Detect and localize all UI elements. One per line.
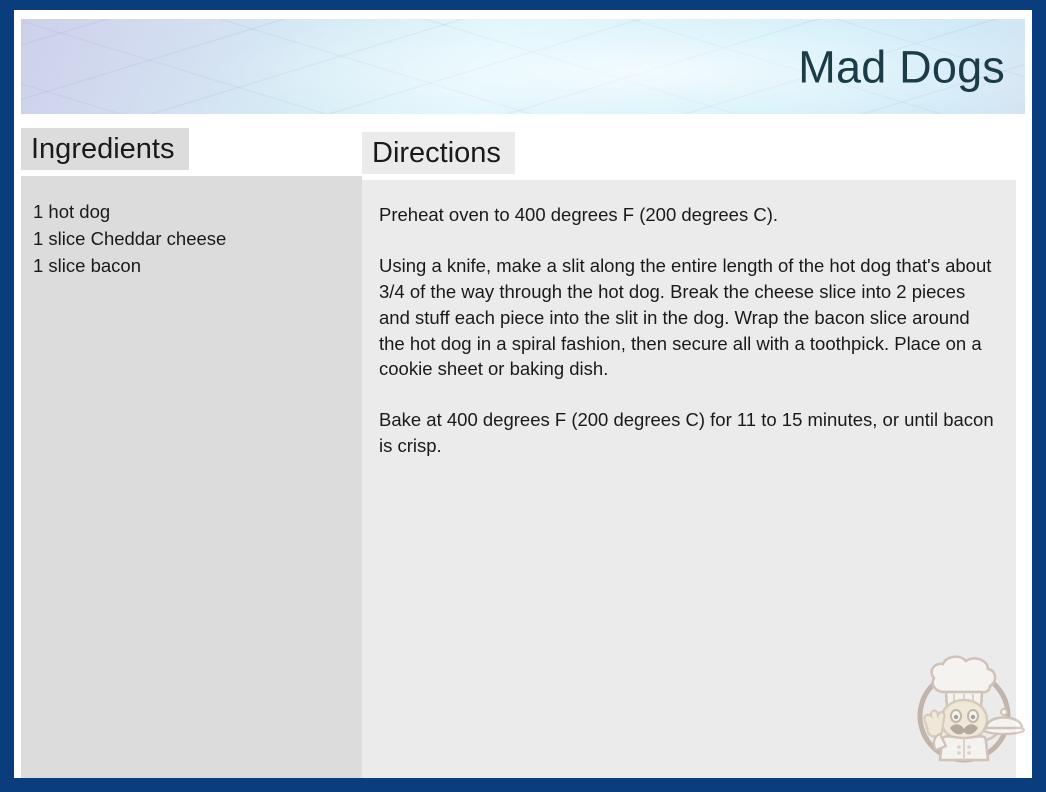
page-title: Mad Dogs	[798, 44, 1005, 89]
recipe-page: Mad Dogs	[14, 10, 1032, 778]
ingredients-list: 1 hot dog 1 slice Cheddar cheese 1 slice…	[33, 198, 348, 279]
directions-heading: Directions	[362, 132, 515, 174]
directions-body: Preheat oven to 400 degrees F (200 degre…	[362, 180, 1016, 778]
direction-step: Bake at 400 degrees F (200 degrees C) fo…	[379, 407, 998, 459]
ingredients-panel: Ingredients 1 hot dog 1 slice Cheddar ch…	[21, 128, 362, 778]
direction-step: Preheat oven to 400 degrees F (200 degre…	[379, 202, 998, 228]
ingredients-body: 1 hot dog 1 slice Cheddar cheese 1 slice…	[21, 176, 362, 778]
list-item: 1 hot dog	[33, 198, 348, 225]
directions-panel: Directions Preheat oven to 400 degrees F…	[362, 132, 1016, 778]
ingredients-heading: Ingredients	[21, 128, 189, 170]
direction-step: Using a knife, make a slit along the ent…	[379, 253, 998, 382]
list-item: 1 slice bacon	[33, 252, 348, 279]
list-item: 1 slice Cheddar cheese	[33, 225, 348, 252]
recipe-card: Mad Dogs	[0, 0, 1046, 792]
header-banner: Mad Dogs	[21, 19, 1025, 114]
